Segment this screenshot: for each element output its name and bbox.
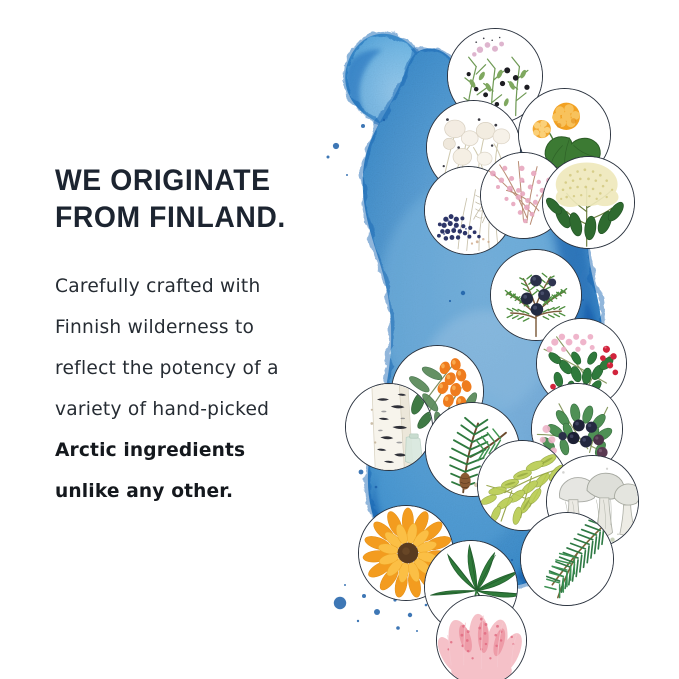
paint-splatter-3 (383, 119, 385, 121)
paint-splatter-15 (396, 626, 400, 630)
medallion-willowherb: Pink willowherb (436, 595, 527, 679)
poster-canvas: WE ORIGINATE FROM FINLAND. Carefully cra… (0, 0, 679, 679)
paint-splatter-8 (375, 486, 378, 489)
paint-splatter-6 (449, 300, 451, 302)
willowherb-art (437, 596, 526, 679)
birch-bark-art (346, 384, 432, 470)
paint-splatter-16 (357, 620, 359, 622)
meadowsweet-art (543, 157, 634, 248)
paint-splatter-5 (461, 291, 465, 295)
pine-needle-art (521, 513, 613, 605)
paint-splatter-2 (361, 124, 365, 128)
paint-splatter-9 (334, 597, 346, 609)
paint-splatter-19 (416, 630, 418, 632)
paint-splatter-18 (344, 584, 346, 586)
paint-splatter-11 (374, 609, 380, 615)
paint-splatter-13 (408, 613, 412, 617)
finland-map-illustration: Crowberry and heather (300, 0, 679, 679)
medallion-pine-needle: Pine needles (520, 512, 614, 606)
paint-splatter-7 (359, 470, 364, 475)
paint-splatter-4 (346, 174, 348, 176)
paint-splatter-1 (327, 156, 330, 159)
medallion-meadowsweet: Meadowsweet (542, 156, 635, 249)
paint-splatter-0 (333, 143, 339, 149)
medallion-birch-bark: Birch bark (345, 383, 433, 471)
paint-splatter-23 (582, 299, 584, 301)
